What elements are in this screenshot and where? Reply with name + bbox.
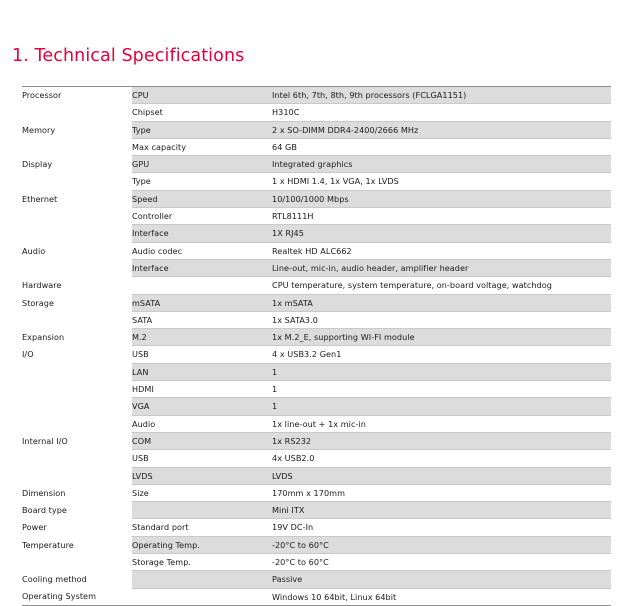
table-row: USB4x USB2.0 <box>22 450 611 467</box>
spec-category <box>22 225 132 242</box>
spec-key: Interface <box>132 225 272 242</box>
spec-category: Temperature <box>22 536 132 553</box>
spec-category <box>22 450 132 467</box>
table-row: LVDSLVDS <box>22 467 611 484</box>
table-row: Storage Temp.-20°C to 60°C <box>22 554 611 571</box>
spec-value: Intel 6th, 7th, 8th, 9th processors (FCL… <box>272 87 611 104</box>
table-row: InterfaceLine-out, mic-in, audio header,… <box>22 259 611 276</box>
spec-key: COM <box>132 432 272 449</box>
table-row: PowerStandard port19V DC-In <box>22 519 611 536</box>
spec-category: Internal I/O <box>22 432 132 449</box>
spec-value: LVDS <box>272 467 611 484</box>
spec-key: Storage Temp. <box>132 554 272 571</box>
spec-key <box>132 502 272 519</box>
spec-category <box>22 415 132 432</box>
spec-category <box>22 467 132 484</box>
spec-category <box>22 104 132 121</box>
spec-key: Operating Temp. <box>132 536 272 553</box>
table-row: Max capacity64 GB <box>22 138 611 155</box>
table-row: I/OUSB4 x USB3.2 Gen1 <box>22 346 611 363</box>
table-row: Board typeMini ITX <box>22 502 611 519</box>
spec-value: 19V DC-In <box>272 519 611 536</box>
spec-category <box>22 363 132 380</box>
table-row: ControllerRTL8111H <box>22 208 611 225</box>
table-row: EthernetSpeed10/100/1000 Mbps <box>22 190 611 207</box>
spec-value: Realtek HD ALC662 <box>272 242 611 259</box>
spec-category <box>22 398 132 415</box>
technical-specifications-table: ProcessorCPUIntel 6th, 7th, 8th, 9th pro… <box>22 86 611 606</box>
spec-category: Power <box>22 519 132 536</box>
spec-value: RTL8111H <box>272 208 611 225</box>
table-row: Cooling methodPassive <box>22 571 611 588</box>
spec-key: LAN <box>132 363 272 380</box>
table-row: MemoryType2 x SO-DIMM DDR4-2400/2666 MHz <box>22 121 611 138</box>
spec-value: -20°C to 60°C <box>272 554 611 571</box>
spec-key: USB <box>132 450 272 467</box>
spec-key: Interface <box>132 259 272 276</box>
spec-value: 10/100/1000 Mbps <box>272 190 611 207</box>
spec-key: Speed <box>132 190 272 207</box>
spec-key: Standard port <box>132 519 272 536</box>
spec-value: 1 x HDMI 1.4, 1x VGA, 1x LVDS <box>272 173 611 190</box>
spec-value: 1x SATA3.0 <box>272 311 611 328</box>
spec-value: 1x mSATA <box>272 294 611 311</box>
spec-category: Board type <box>22 502 132 519</box>
spec-value: Line-out, mic-in, audio header, amplifie… <box>272 259 611 276</box>
spec-key: Type <box>132 121 272 138</box>
table-row: DisplayGPUIntegrated graphics <box>22 156 611 173</box>
table-row: LAN1 <box>22 363 611 380</box>
spec-key: M.2 <box>132 329 272 346</box>
spec-value: 1 <box>272 363 611 380</box>
table-row: SATA1x SATA3.0 <box>22 311 611 328</box>
spec-value: H310C <box>272 104 611 121</box>
spec-value: CPU temperature, system temperature, on-… <box>272 277 611 294</box>
spec-key: Chipset <box>132 104 272 121</box>
spec-value: Mini ITX <box>272 502 611 519</box>
spec-category: Expansion <box>22 329 132 346</box>
spec-category: Hardware <box>22 277 132 294</box>
spec-category: Ethernet <box>22 190 132 207</box>
spec-key <box>132 277 272 294</box>
spec-value: Passive <box>272 571 611 588</box>
spec-key: Type <box>132 173 272 190</box>
spec-key: USB <box>132 346 272 363</box>
spec-category: Cooling method <box>22 571 132 588</box>
spec-key: HDMI <box>132 381 272 398</box>
spec-category: Storage <box>22 294 132 311</box>
spec-key: Size <box>132 484 272 501</box>
spec-value: 1x M.2_E, supporting WI-FI module <box>272 329 611 346</box>
spec-key <box>132 571 272 588</box>
spec-category: Memory <box>22 121 132 138</box>
spec-value: 4x USB2.0 <box>272 450 611 467</box>
table-row: TemperatureOperating Temp.-20°C to 60°C <box>22 536 611 553</box>
table-row: ProcessorCPUIntel 6th, 7th, 8th, 9th pro… <box>22 87 611 104</box>
table-body: ProcessorCPUIntel 6th, 7th, 8th, 9th pro… <box>22 87 611 606</box>
table-row: VGA1 <box>22 398 611 415</box>
spec-value: 2 x SO-DIMM DDR4-2400/2666 MHz <box>272 121 611 138</box>
spec-value: 1 <box>272 398 611 415</box>
spec-value: 1x line-out + 1x mic-in <box>272 415 611 432</box>
spec-key: GPU <box>132 156 272 173</box>
spec-category <box>22 311 132 328</box>
spec-category <box>22 259 132 276</box>
table-row: HDMI1 <box>22 381 611 398</box>
table-row: Interface1X RJ45 <box>22 225 611 242</box>
spec-key: SATA <box>132 311 272 328</box>
spec-category: Dimension <box>22 484 132 501</box>
spec-value: 1X RJ45 <box>272 225 611 242</box>
spec-category <box>22 173 132 190</box>
spec-value: 1 <box>272 381 611 398</box>
spec-key: Audio <box>132 415 272 432</box>
spec-key: Controller <box>132 208 272 225</box>
spec-value: -20°C to 60°C <box>272 536 611 553</box>
spec-category: Processor <box>22 87 132 104</box>
spec-category: Audio <box>22 242 132 259</box>
spec-value: 1x RS232 <box>272 432 611 449</box>
table-row: StoragemSATA1x mSATA <box>22 294 611 311</box>
table-row: DimensionSize170mm x 170mm <box>22 484 611 501</box>
spec-category <box>22 554 132 571</box>
table-row: HardwareCPU temperature, system temperat… <box>22 277 611 294</box>
table-row: Audio1x line-out + 1x mic-in <box>22 415 611 432</box>
spec-category <box>22 381 132 398</box>
spec-key: Audio codec <box>132 242 272 259</box>
spec-key: mSATA <box>132 294 272 311</box>
table-row: ExpansionM.21x M.2_E, supporting WI-FI m… <box>22 329 611 346</box>
spec-key: CPU <box>132 87 272 104</box>
spec-value: 4 x USB3.2 Gen1 <box>272 346 611 363</box>
spec-value: 64 GB <box>272 138 611 155</box>
spec-category: Display <box>22 156 132 173</box>
spec-key: LVDS <box>132 467 272 484</box>
spec-value: 170mm x 170mm <box>272 484 611 501</box>
table-row: ChipsetH310C <box>22 104 611 121</box>
table-row: Internal I/OCOM1x RS232 <box>22 432 611 449</box>
spec-category <box>22 208 132 225</box>
spec-key: Max capacity <box>132 138 272 155</box>
spec-key: VGA <box>132 398 272 415</box>
table-row: AudioAudio codecRealtek HD ALC662 <box>22 242 611 259</box>
table-row: Type1 x HDMI 1.4, 1x VGA, 1x LVDS <box>22 173 611 190</box>
spec-value: Integrated graphics <box>272 156 611 173</box>
spec-category <box>22 138 132 155</box>
spec-category: I/O <box>22 346 132 363</box>
page-title: 1. Technical Specifications <box>12 46 244 66</box>
